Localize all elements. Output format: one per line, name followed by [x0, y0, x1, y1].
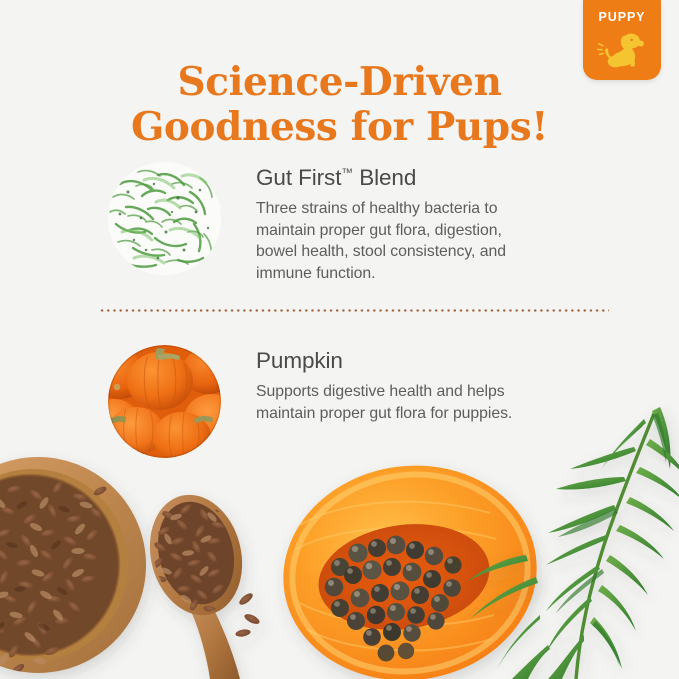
feature-title: Gut First™ Blend	[256, 166, 616, 191]
promo-infographic: PUPPY	[0, 0, 679, 679]
feature-title: Pumpkin	[256, 349, 616, 374]
trademark-symbol: ™	[341, 167, 353, 180]
puppy-dog-icon	[597, 28, 647, 70]
feature-title-main: Pumpkin	[256, 348, 343, 373]
puppy-badge-label: PUPPY	[599, 11, 646, 24]
feature-title-suffix: Blend	[353, 165, 416, 190]
feature-row-pumpkin: Pumpkin Supports digestive health and he…	[108, 345, 616, 458]
feature-title-main: Gut First	[256, 165, 341, 190]
pumpkins-photo	[108, 345, 221, 458]
feature-text-block: Pumpkin Supports digestive health and he…	[256, 345, 616, 458]
page-title: Science-Driven Goodness for Pups!	[0, 60, 679, 150]
puppy-badge: PUPPY	[583, 0, 661, 80]
dotted-divider	[99, 308, 609, 313]
feature-text-block: Gut First™ Blend Three strains of health…	[256, 162, 616, 285]
feature-row-gut-first-blend: Gut First™ Blend Three strains of health…	[108, 162, 616, 285]
feature-body: Supports digestive health and helps main…	[256, 381, 616, 425]
feature-body: Three strains of healthy bacteria to mai…	[256, 198, 616, 285]
bacteria-microscopy-image	[108, 162, 221, 275]
